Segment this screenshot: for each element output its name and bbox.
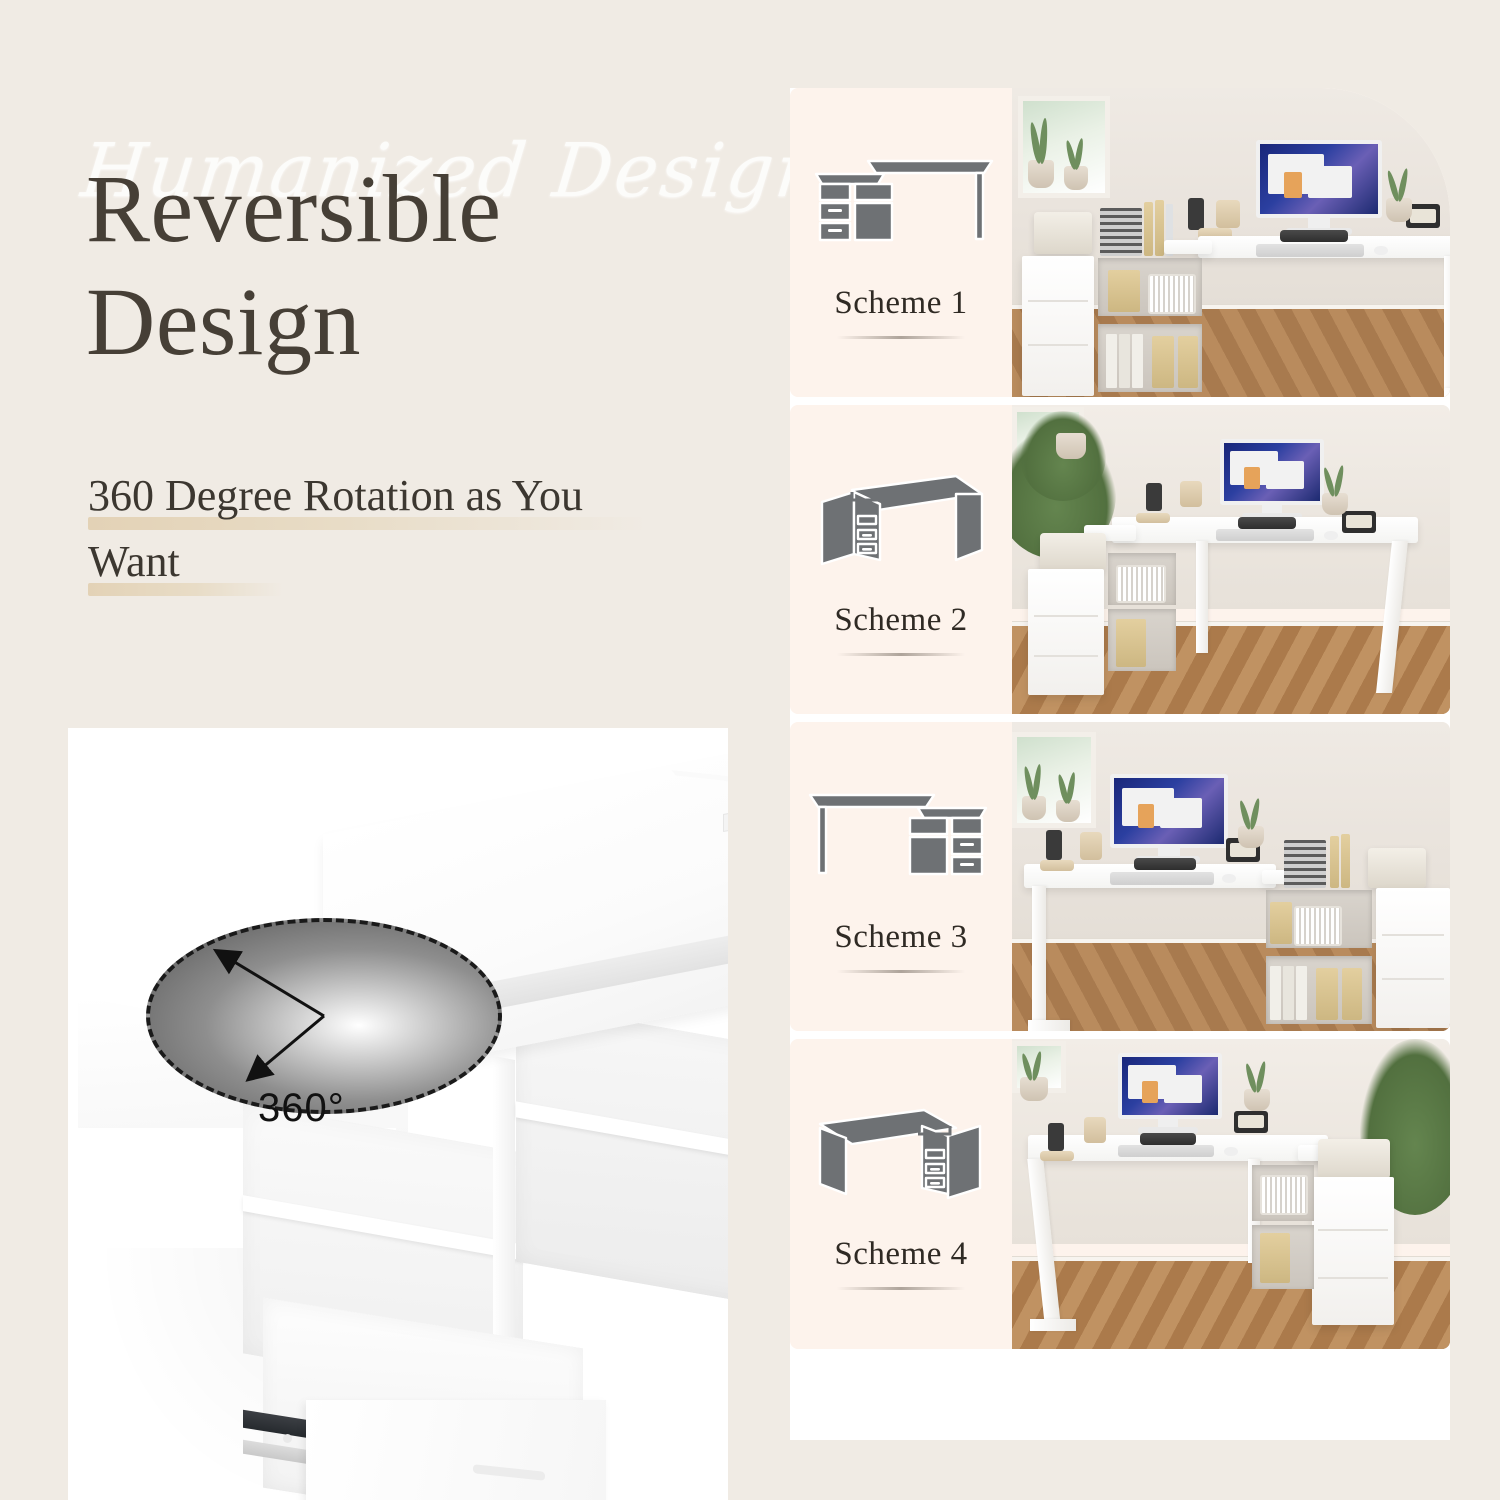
scheme-4-legend: Scheme 4 xyxy=(790,1039,1012,1349)
title-line-1: Reversible xyxy=(86,155,502,262)
open-shelf-right xyxy=(516,1002,728,1315)
drawer-front-panel xyxy=(306,1400,606,1500)
power-cord xyxy=(665,770,728,840)
scheme-panel-2[interactable]: Scheme 2 xyxy=(790,405,1450,714)
schemes-column: Scheme 1 xyxy=(790,88,1450,1440)
scheme-2-photo xyxy=(1012,405,1450,714)
scheme-4-label: Scheme 4 xyxy=(834,1236,967,1273)
scheme-3-legend: Scheme 3 xyxy=(790,722,1012,1031)
desk-3d-storage-right-icon xyxy=(806,1098,996,1214)
rotation-indicator: 360° xyxy=(146,918,506,1118)
scheme-2-underline xyxy=(837,653,965,656)
rotation-degree-label: 360° xyxy=(258,1086,345,1131)
desk-flat-storage-left-icon xyxy=(806,147,996,263)
desk-3d-storage-left-icon xyxy=(806,464,996,580)
scheme-1-legend: Scheme 1 xyxy=(790,88,1012,397)
scheme-1-label: Scheme 1 xyxy=(834,285,967,322)
scheme-4-underline xyxy=(837,1287,965,1290)
scheme-3-underline xyxy=(837,970,965,973)
scheme-3-label: Scheme 3 xyxy=(834,919,967,956)
scheme-1-photo xyxy=(1012,88,1450,397)
scheme-panel-3[interactable]: Scheme 3 xyxy=(790,722,1450,1031)
scheme-panel-4[interactable]: Scheme 4 xyxy=(790,1039,1450,1349)
scheme-panel-1[interactable]: Scheme 1 xyxy=(790,88,1450,397)
left-column: Humanized Design Reversible Design 360 D… xyxy=(0,0,780,1500)
subtitle-line-2: Want xyxy=(88,536,708,602)
subtitle: 360 Degree Rotation as You Want xyxy=(88,470,708,602)
drawer-rail-screw xyxy=(283,1434,292,1443)
scheme-3-photo xyxy=(1012,722,1450,1031)
subtitle-line-1: 360 Degree Rotation as You xyxy=(88,470,708,536)
scheme-1-underline xyxy=(837,336,965,339)
title-line-2: Design xyxy=(86,265,726,378)
scheme-4-photo xyxy=(1012,1039,1450,1349)
scheme-2-legend: Scheme 2 xyxy=(790,405,1012,714)
desk-flat-storage-right-icon xyxy=(806,781,996,897)
page-title: Reversible Design xyxy=(86,152,726,379)
rotating-desktop-closeup-photo: 360° xyxy=(68,728,728,1500)
scheme-2-label: Scheme 2 xyxy=(834,602,967,639)
infographic-canvas: Humanized Design Reversible Design 360 D… xyxy=(0,0,1500,1500)
